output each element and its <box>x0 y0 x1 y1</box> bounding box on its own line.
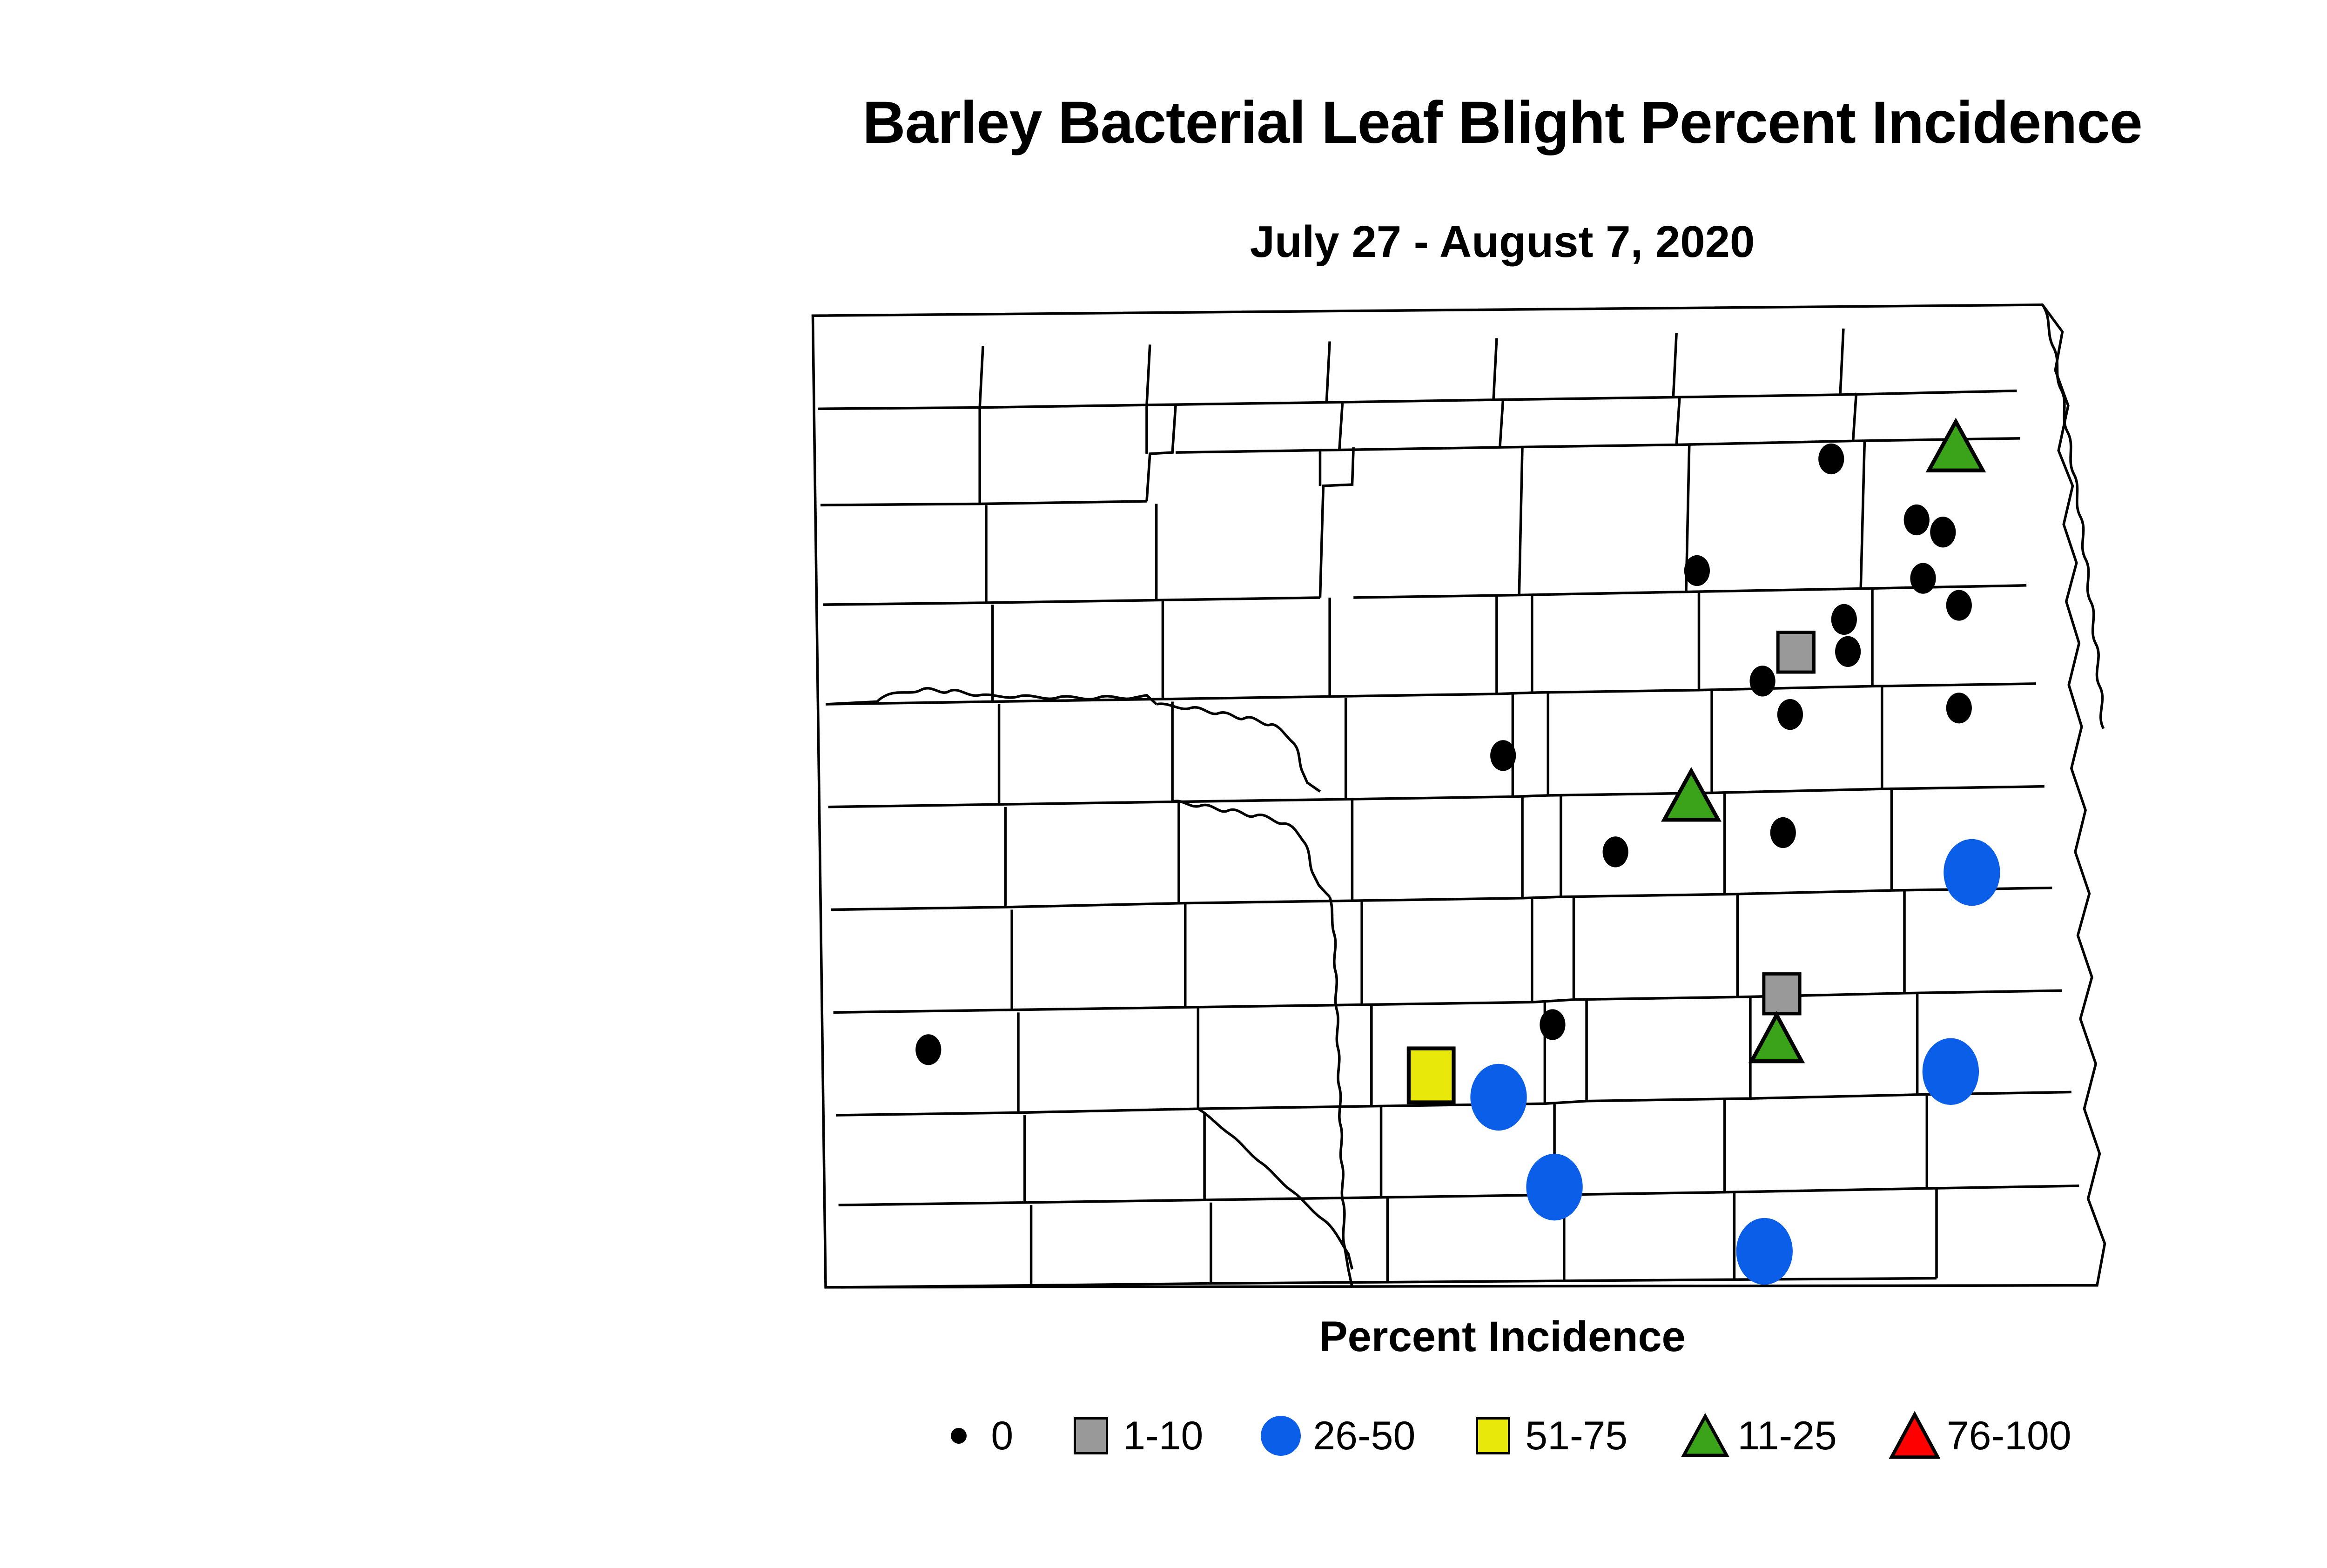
state-outline <box>813 305 2105 1287</box>
legend-item-26-50[interactable]: 26-50 <box>1255 1406 1415 1466</box>
marker-dot[interactable] <box>1770 817 1796 848</box>
incidence-51-75-markers[interactable] <box>1409 1049 1454 1103</box>
marker-dot[interactable] <box>1603 836 1628 867</box>
legend-label: 51-75 <box>1525 1413 1628 1459</box>
black-dot-icon <box>933 1406 984 1466</box>
marker-square[interactable] <box>1778 633 1814 673</box>
marker-square[interactable] <box>1764 974 1800 1014</box>
marker-dot[interactable] <box>1910 563 1936 593</box>
red-triangle-icon <box>1889 1406 1940 1466</box>
marker-dot[interactable] <box>1777 699 1803 730</box>
legend-label: 11-25 <box>1737 1413 1837 1459</box>
legend-item-0[interactable]: 0 <box>933 1406 1013 1466</box>
legend-item-51-75[interactable]: 51-75 <box>1467 1406 1628 1466</box>
page-subtitle: July 27 - August 7, 2020 <box>0 216 2327 268</box>
gray-square-icon <box>1065 1406 1116 1466</box>
marker-circle[interactable] <box>1470 1064 1527 1131</box>
legend-title: Percent Incidence <box>0 1312 2327 1361</box>
marker-dot[interactable] <box>1930 517 1956 547</box>
marker-circle[interactable] <box>1526 1154 1582 1220</box>
green-triangle-icon <box>1680 1406 1731 1466</box>
page-title: Barley Bacterial Leaf Blight Percent Inc… <box>0 88 2327 157</box>
marker-dot[interactable] <box>1946 693 1972 723</box>
map-svg <box>619 293 2304 1308</box>
marker-dot[interactable] <box>1490 740 1516 771</box>
legend-label: 1-10 <box>1123 1413 1203 1459</box>
marker-dot[interactable] <box>1684 555 1710 586</box>
marker-dot[interactable] <box>1818 444 1844 474</box>
marker-square[interactable] <box>1409 1049 1454 1103</box>
legend-label: 26-50 <box>1313 1413 1415 1459</box>
map-page: Barley Bacterial Leaf Blight Percent Inc… <box>0 0 2327 1568</box>
marker-dot[interactable] <box>1540 1009 1565 1040</box>
marker-dot[interactable] <box>1750 666 1776 696</box>
legend-item-1-10[interactable]: 1-10 <box>1065 1406 1203 1466</box>
marker-circle[interactable] <box>1944 839 2000 906</box>
legend-item-76-100[interactable]: 76-100 <box>1889 1406 2071 1466</box>
marker-dot[interactable] <box>915 1034 941 1065</box>
marker-dot[interactable] <box>1904 505 1930 535</box>
marker-circle[interactable] <box>1736 1218 1793 1285</box>
blue-circle-icon <box>1255 1406 1306 1466</box>
north-dakota-county-map[interactable] <box>619 293 2304 1308</box>
legend-label: 76-100 <box>1947 1413 2071 1459</box>
yellow-square-icon <box>1467 1406 1519 1466</box>
marker-dot[interactable] <box>1946 590 1972 620</box>
legend-item-11-25[interactable]: 11-25 <box>1680 1406 1837 1466</box>
marker-dot[interactable] <box>1835 636 1861 667</box>
marker-dot[interactable] <box>1831 604 1857 635</box>
legend: 0 1-10 26-50 51-75 1 <box>0 1406 2327 1466</box>
county-boundaries <box>813 305 2105 1287</box>
marker-circle[interactable] <box>1923 1038 1979 1105</box>
legend-label: 0 <box>991 1413 1013 1459</box>
